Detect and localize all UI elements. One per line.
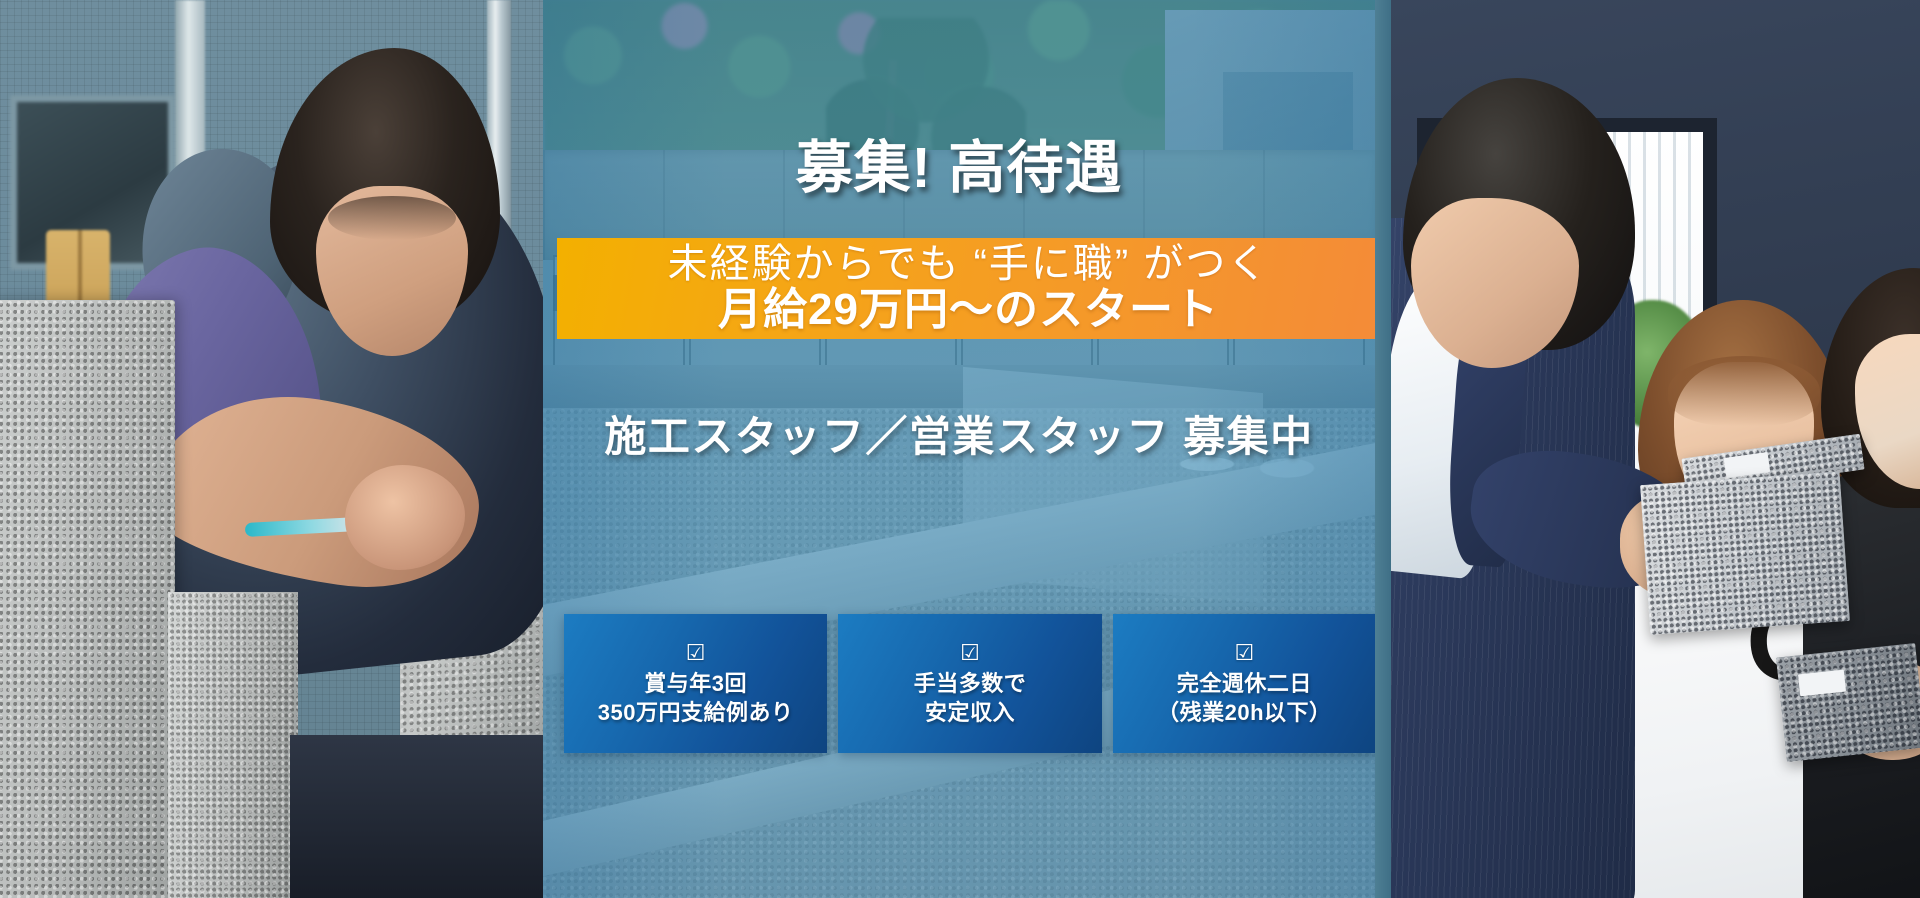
- benefit-line-1: 完全週休二日: [1157, 670, 1331, 699]
- photo-left-edge-tint: [1375, 0, 1391, 898]
- sales-staff-head: [1403, 78, 1635, 350]
- highlight-line-2: 月給29万円〜のスタート: [718, 287, 1219, 333]
- benefit-line-2: 安定収入: [914, 699, 1027, 728]
- benefit-line-1: 賞与年3回: [598, 670, 794, 699]
- benefit-box-holidays[interactable]: ☑ 完全週休二日 （残業20h以下）: [1113, 614, 1375, 753]
- photo-left-stonemason: [0, 0, 543, 898]
- check-circle-icon: ☑: [686, 642, 706, 664]
- benefit-line-2: （残業20h以下）: [1157, 699, 1331, 728]
- foreground-shadow: [290, 735, 543, 898]
- headline: 募集! 高待遇: [543, 122, 1375, 204]
- center-panel: 募集! 高待遇 未経験からでも “手に職” がつく 月給29万円〜のスタート 施…: [543, 0, 1375, 898]
- check-circle-icon: ☑: [1234, 642, 1254, 664]
- recruitment-banner: 募集! 高待遇 未経験からでも “手に職” がつく 月給29万円〜のスタート 施…: [0, 0, 1920, 898]
- benefit-box-text: 手当多数で 安定収入: [914, 670, 1027, 727]
- benefit-box-text: 賞与年3回 350万円支給例あり: [598, 670, 794, 727]
- worker-head: [270, 48, 500, 328]
- benefit-box-text: 完全週休二日 （残業20h以下）: [1157, 670, 1331, 727]
- granite-sample-large: [1640, 471, 1850, 635]
- subline: 施工スタッフ／営業スタッフ 募集中: [543, 403, 1375, 464]
- benefit-box-allowances[interactable]: ☑ 手当多数で 安定収入: [838, 614, 1101, 753]
- benefit-box-bonus[interactable]: ☑ 賞与年3回 350万円支給例あり: [564, 614, 827, 753]
- granite-sample-dark: [1776, 643, 1920, 762]
- highlight-line-1: 未経験からでも “手に職” がつく: [668, 243, 1270, 285]
- granite-stone-left: [0, 300, 175, 898]
- center-content: 募集! 高待遇 未経験からでも “手に職” がつく 月給29万円〜のスタート 施…: [543, 0, 1375, 898]
- photo-right-sales-staff: O: [1375, 0, 1920, 898]
- benefit-box-list: ☑ 賞与年3回 350万円支給例あり ☑ 手当多数で 安定収入 ☑: [564, 614, 1375, 753]
- woman-1-bangs: [1668, 356, 1820, 426]
- benefit-line-2: 350万円支給例あり: [598, 699, 794, 728]
- check-circle-icon: ☑: [960, 642, 980, 664]
- benefit-line-1: 手当多数で: [914, 670, 1027, 699]
- granite-stone-center: [168, 592, 298, 898]
- highlight-band: 未経験からでも “手に職” がつく 月給29万円〜のスタート: [557, 238, 1375, 339]
